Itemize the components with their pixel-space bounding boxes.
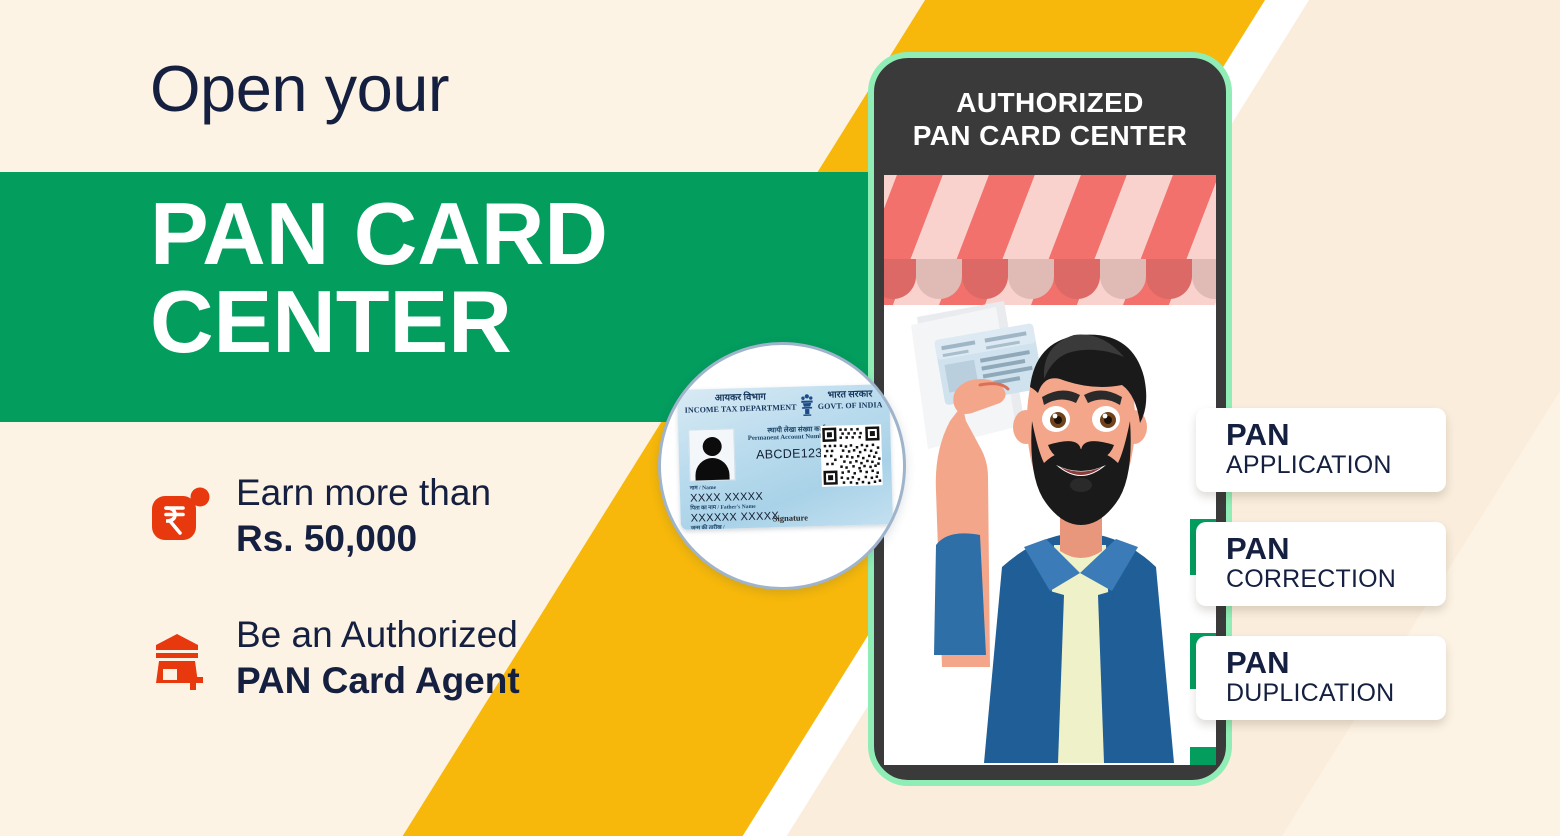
person-silhouette-icon [694, 437, 729, 481]
pan-card-father-value: XXXXXX XXXXX [691, 510, 780, 525]
rupee-badge-icon [150, 484, 210, 548]
phone-mockup: AUTHORIZED PAN CARD CENTER [868, 52, 1232, 786]
phone-title-line1: AUTHORIZED [956, 87, 1144, 118]
feature-earn-line2: Rs. 50,000 [236, 516, 491, 562]
india-emblem-icon [798, 392, 816, 417]
feature-earn-line1: Earn more than [236, 472, 491, 513]
feature-agent: Be an Authorized PAN Card Agent [150, 612, 520, 704]
phone-title-line2: PAN CARD CENTER [913, 120, 1188, 151]
feature-agent-text: Be an Authorized PAN Card Agent [236, 612, 520, 704]
feature-earn-text: Earn more than Rs. 50,000 [236, 470, 491, 562]
headline-line-1: PAN CARD [150, 184, 608, 283]
phone-screen [884, 175, 1216, 765]
phone-header-title: AUTHORIZED PAN CARD CENTER [874, 86, 1226, 152]
badge-3-bottom: DUPLICATION [1226, 679, 1446, 709]
shop-add-icon [150, 626, 210, 690]
service-badge-pan-application[interactable]: PAN APPLICATION [1196, 408, 1446, 492]
feature-earn: Earn more than Rs. 50,000 [150, 470, 491, 562]
feature-agent-line2: PAN Card Agent [236, 658, 520, 704]
promo-banner: Open your PAN CARD CENTER Earn more than… [0, 0, 1560, 836]
shop-awning [884, 175, 1216, 305]
page-title: PAN CARD CENTER [150, 190, 890, 366]
magnifier-circle: आयकर विभाग INCOME TAX DEPARTMENT [658, 342, 906, 590]
pan-card-govt: भारत सरकार GOVT. OF INDIA [817, 389, 882, 411]
green-tab-3 [1190, 747, 1216, 765]
pan-card-fields: नाम / Name XXXX XXXXX पिता का नाम / Fath… [690, 483, 780, 530]
pan-card-photo [688, 428, 735, 481]
service-badge-pan-duplication[interactable]: PAN DUPLICATION [1196, 636, 1446, 720]
feature-agent-line1: Be an Authorized [236, 614, 518, 655]
character-illustration [884, 295, 1216, 765]
badge-1-bottom: APPLICATION [1226, 451, 1446, 481]
badge-2-bottom: CORRECTION [1226, 565, 1446, 595]
qr-code [820, 424, 883, 487]
kicker-text: Open your [150, 56, 449, 121]
pan-card-header: आयकर विभाग INCOME TAX DEPARTMENT [684, 389, 883, 421]
pan-card-sample: आयकर विभाग INCOME TAX DEPARTMENT [677, 384, 893, 530]
pan-card-dept-english: INCOME TAX DEPARTMENT [685, 402, 797, 414]
badge-3-top: PAN [1226, 647, 1446, 679]
pan-card-govt-english: GOVT. OF INDIA [818, 400, 883, 411]
badge-1-top: PAN [1226, 419, 1446, 451]
badge-2-top: PAN [1226, 533, 1446, 565]
pan-card-dept: आयकर विभाग INCOME TAX DEPARTMENT [684, 392, 797, 415]
pan-card-signature-label: Signature [773, 512, 809, 523]
service-badge-pan-correction[interactable]: PAN CORRECTION [1196, 522, 1446, 606]
